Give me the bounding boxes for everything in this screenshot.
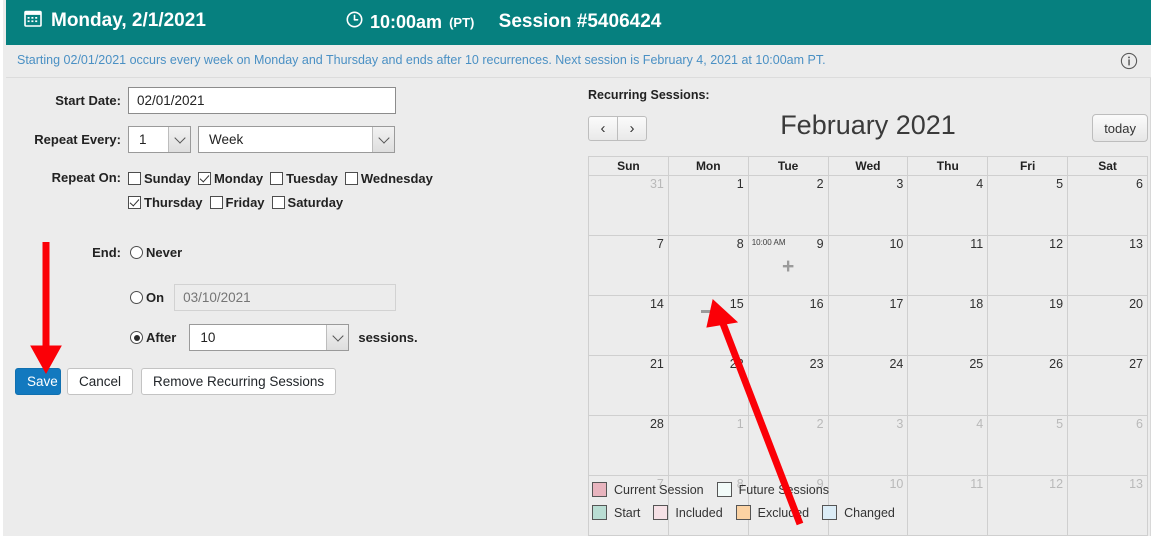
- label-sessions-suffix: sessions.: [358, 330, 417, 345]
- legend-item: Excluded: [736, 505, 809, 520]
- calendar-day-cell[interactable]: 18: [908, 296, 988, 356]
- calendar-day-number: 2: [817, 417, 824, 431]
- calendar-day-cell[interactable]: 3: [828, 176, 908, 236]
- add-session-plus-icon[interactable]: +: [782, 260, 794, 274]
- weekday-row-1: Sunday Monday Tuesday Wednesday: [128, 168, 433, 189]
- calendar-icon: [24, 9, 42, 33]
- calendar-day-number: 14: [650, 297, 664, 311]
- repeat-every-label: Repeat Every:: [3, 132, 121, 147]
- checkbox-monday[interactable]: [198, 172, 211, 185]
- calendar-day-cell[interactable]: 5: [988, 416, 1068, 476]
- calendar-day-number: 4: [976, 177, 983, 191]
- remove-recurring-sessions-button[interactable]: Remove Recurring Sessions: [141, 368, 336, 395]
- weekday-header-sun: Sun: [589, 157, 669, 176]
- legend-row-primary: Current SessionFuture Sessions: [592, 478, 1151, 501]
- calendar-day-number: 4: [976, 417, 983, 431]
- label-end-after: After: [146, 330, 176, 345]
- calendar-week-row: 28123456: [589, 416, 1148, 476]
- weekday-header-thu: Thu: [908, 157, 988, 176]
- checkbox-friday[interactable]: [210, 196, 223, 209]
- label-end-never: Never: [146, 245, 182, 260]
- form-actions: Save Cancel Remove Recurring Sessions: [15, 368, 336, 395]
- calendar-day-cell[interactable]: 25: [908, 356, 988, 416]
- calendar-weekday-header: Sun Mon Tue Wed Thu Fri Sat: [589, 157, 1148, 176]
- excluded-session-dash-icon[interactable]: [701, 310, 715, 313]
- end-label: End:: [3, 245, 121, 260]
- legend-item: Changed: [822, 505, 895, 520]
- calendar-day-cell[interactable]: 16: [748, 296, 828, 356]
- repeat-unit-value: Week: [209, 132, 243, 147]
- header-date-group: Monday, 2/1/2021: [24, 9, 206, 33]
- calendar-day-number: 15: [730, 297, 744, 311]
- legend-swatch: [592, 482, 607, 497]
- legend-swatch: [653, 505, 668, 520]
- save-button[interactable]: Save: [15, 368, 61, 395]
- calendar-day-cell[interactable]: 4: [908, 176, 988, 236]
- calendar-toolbar: ‹ › February 2021 today: [588, 108, 1148, 150]
- label-thursday: Thursday: [144, 195, 203, 210]
- legend-row-states: StartIncludedExcludedChanged: [592, 501, 1151, 524]
- calendar-day-cell[interactable]: 23: [748, 356, 828, 416]
- calendar-day-number: 28: [650, 417, 664, 431]
- end-after-row: After 10 sessions.: [3, 324, 443, 351]
- label-sunday: Sunday: [144, 171, 191, 186]
- legend-swatch: [717, 482, 732, 497]
- calendar-day-number: 8: [737, 237, 744, 251]
- end-after-count-select[interactable]: 10: [189, 324, 349, 351]
- calendar-day-cell[interactable]: 4: [908, 416, 988, 476]
- weekday-header-tue: Tue: [748, 157, 828, 176]
- calendar-day-number: 12: [1049, 237, 1063, 251]
- recurring-sessions-calendar: Recurring Sessions: ‹ › February 2021 to…: [588, 88, 1148, 536]
- main-panel: Monday, 2/1/2021 10:00am (PT) Session #5…: [0, 0, 1151, 536]
- calendar-day-cell[interactable]: 11: [908, 236, 988, 296]
- header-time-group: 10:00am (PT): [346, 11, 474, 33]
- header-time-text: 10:00am: [370, 12, 442, 33]
- calendar-day-cell[interactable]: 1: [668, 416, 748, 476]
- calendar-day-cell[interactable]: 7: [589, 236, 669, 296]
- repeat-interval-value: 1: [139, 132, 147, 147]
- calendar-day-number: 26: [1049, 357, 1063, 371]
- end-never-row: End: Never: [3, 245, 303, 260]
- label-end-on: On: [146, 290, 164, 305]
- calendar-day-number: 18: [969, 297, 983, 311]
- calendar-day-cell[interactable]: 6: [1068, 416, 1148, 476]
- start-date-input[interactable]: [128, 87, 396, 114]
- repeat-on-row: Repeat On: Sunday Monday Tuesday Wednesd…: [3, 168, 433, 213]
- calendar-day-number: 23: [810, 357, 824, 371]
- legend-item: Future Sessions: [717, 482, 829, 497]
- end-on-date-input[interactable]: [174, 284, 396, 311]
- recurring-session-editor: Monday, 2/1/2021 10:00am (PT) Session #5…: [0, 0, 1151, 548]
- label-tuesday: Tuesday: [286, 171, 338, 186]
- recurrence-summary-text: Starting 02/01/2021 occurs every week on…: [17, 53, 826, 67]
- calendar-day-number: 6: [1136, 177, 1143, 191]
- info-circle-icon[interactable]: [1120, 52, 1138, 70]
- calendar-day-cell[interactable]: 26: [988, 356, 1068, 416]
- calendar-day-cell[interactable]: 24: [828, 356, 908, 416]
- calendar-day-number: 31: [650, 177, 664, 191]
- weekday-header-wed: Wed: [828, 157, 908, 176]
- calendar-day-number: 5: [1056, 177, 1063, 191]
- calendar-day-cell[interactable]: 5: [988, 176, 1068, 236]
- calendar-day-number: 16: [810, 297, 824, 311]
- calendar-day-number: 25: [969, 357, 983, 371]
- calendar-day-number: 20: [1129, 297, 1143, 311]
- calendar-day-cell[interactable]: 14: [589, 296, 669, 356]
- radio-end-never[interactable]: [130, 246, 143, 259]
- calendar-today-button[interactable]: today: [1092, 114, 1148, 142]
- recurrence-summary-banner: Starting 02/01/2021 occurs every week on…: [6, 45, 1151, 78]
- calendar-day-number: 5: [1056, 417, 1063, 431]
- calendar-day-number: 1: [737, 417, 744, 431]
- calendar-day-number: 3: [896, 417, 903, 431]
- calendar-day-number: 1: [737, 177, 744, 191]
- label-friday: Friday: [226, 195, 265, 210]
- header-date-text: Monday, 2/1/2021: [51, 10, 206, 32]
- calendar-day-number: 7: [657, 237, 664, 251]
- calendar-next-button[interactable]: ›: [617, 116, 647, 141]
- weekday-header-sat: Sat: [1068, 157, 1148, 176]
- chevron-down-icon: [168, 127, 190, 152]
- repeat-interval-select[interactable]: 1: [128, 126, 191, 153]
- calendar-day-cell[interactable]: 15: [668, 296, 748, 356]
- legend-label: Included: [675, 506, 722, 520]
- calendar-day-cell[interactable]: 2: [748, 176, 828, 236]
- calendar-day-number: 24: [889, 357, 903, 371]
- end-on-row: On: [3, 284, 423, 311]
- legend-label: Excluded: [758, 506, 809, 520]
- radio-end-after[interactable]: [130, 331, 143, 344]
- legend-item: Included: [653, 505, 722, 520]
- weekday-header-mon: Mon: [668, 157, 748, 176]
- calendar-day-cell[interactable]: 27: [1068, 356, 1148, 416]
- calendar-day-number: 11: [970, 237, 983, 251]
- calendar-day-cell[interactable]: 1: [668, 176, 748, 236]
- calendar-day-cell[interactable]: 21: [589, 356, 669, 416]
- checkbox-wednesday[interactable]: [345, 172, 358, 185]
- calendar-day-cell[interactable]: 10:00 AM+9: [748, 236, 828, 296]
- calendar-week-row: 31123456: [589, 176, 1148, 236]
- header-timezone: (PT): [449, 15, 474, 30]
- calendar-day-cell[interactable]: 20: [1068, 296, 1148, 356]
- calendar-day-cell[interactable]: 31: [589, 176, 669, 236]
- end-after-count-value: 10: [200, 330, 215, 345]
- calendar-day-cell[interactable]: 22: [668, 356, 748, 416]
- legend-swatch: [592, 505, 607, 520]
- checkbox-sunday[interactable]: [128, 172, 141, 185]
- legend-swatch: [736, 505, 751, 520]
- repeat-every-row: Repeat Every: 1 Week: [3, 126, 413, 153]
- chevron-down-icon: [372, 127, 394, 152]
- radio-end-on[interactable]: [130, 291, 143, 304]
- calendar-day-number: 22: [730, 357, 744, 371]
- calendar-day-cell[interactable]: 13: [1068, 236, 1148, 296]
- checkbox-thursday[interactable]: [128, 196, 141, 209]
- chevron-down-icon: [326, 325, 348, 350]
- legend-item: Current Session: [592, 482, 704, 497]
- recurrence-form: Start Date: Repeat Every: 1 Week Repeat …: [3, 78, 583, 536]
- calendar-day-cell[interactable]: 2: [748, 416, 828, 476]
- legend-label: Changed: [844, 506, 895, 520]
- calendar-day-cell[interactable]: 17: [828, 296, 908, 356]
- weekday-header-fri: Fri: [988, 157, 1068, 176]
- calendar-day-cell[interactable]: 6: [1068, 176, 1148, 236]
- calendar-day-time-label: 10:00 AM: [752, 238, 786, 247]
- calendar-day-cell[interactable]: 19: [988, 296, 1068, 356]
- calendar-day-number: 27: [1129, 357, 1143, 371]
- calendar-day-cell[interactable]: 3: [828, 416, 908, 476]
- weekday-row-2: Thursday Friday Saturday: [128, 192, 433, 213]
- recurring-sessions-label: Recurring Sessions:: [588, 88, 1148, 102]
- checkbox-tuesday[interactable]: [270, 172, 283, 185]
- calendar-day-number: 10: [889, 237, 903, 251]
- cancel-button[interactable]: Cancel: [67, 368, 133, 395]
- calendar-day-number: 2: [817, 177, 824, 191]
- calendar-week-row: 14151617181920: [589, 296, 1148, 356]
- label-saturday: Saturday: [288, 195, 344, 210]
- label-monday: Monday: [214, 171, 263, 186]
- calendar-day-cell[interactable]: 28: [589, 416, 669, 476]
- calendar-day-cell[interactable]: 12: [988, 236, 1068, 296]
- calendar-day-number: 17: [889, 297, 903, 311]
- calendar-day-cell[interactable]: 10: [828, 236, 908, 296]
- calendar-day-number: 21: [650, 357, 664, 371]
- label-wednesday: Wednesday: [361, 171, 433, 186]
- calendar-legend: Current SessionFuture Sessions StartIncl…: [592, 478, 1151, 524]
- legend-label: Future Sessions: [739, 483, 829, 497]
- checkbox-saturday[interactable]: [272, 196, 285, 209]
- clock-icon: [346, 11, 363, 33]
- legend-label: Start: [614, 506, 640, 520]
- calendar-day-number: 9: [817, 237, 824, 251]
- calendar-week-row: 7810:00 AM+910111213: [589, 236, 1148, 296]
- start-date-row: Start Date:: [3, 87, 403, 114]
- calendar-day-number: 13: [1129, 237, 1143, 251]
- repeat-unit-select[interactable]: Week: [198, 126, 395, 153]
- calendar-prev-button[interactable]: ‹: [588, 116, 618, 141]
- calendar-day-number: 6: [1136, 417, 1143, 431]
- calendar-day-number: 19: [1049, 297, 1063, 311]
- start-date-label: Start Date:: [3, 93, 121, 108]
- repeat-on-label: Repeat On:: [3, 168, 121, 185]
- calendar-month-title: February 2021: [588, 110, 1148, 141]
- legend-swatch: [822, 505, 837, 520]
- legend-label: Current Session: [614, 483, 704, 497]
- calendar-week-row: 21222324252627: [589, 356, 1148, 416]
- calendar-day-number: 3: [896, 177, 903, 191]
- legend-item: Start: [592, 505, 640, 520]
- calendar-day-cell[interactable]: 8: [668, 236, 748, 296]
- session-header: Monday, 2/1/2021 10:00am (PT) Session #5…: [6, 0, 1151, 45]
